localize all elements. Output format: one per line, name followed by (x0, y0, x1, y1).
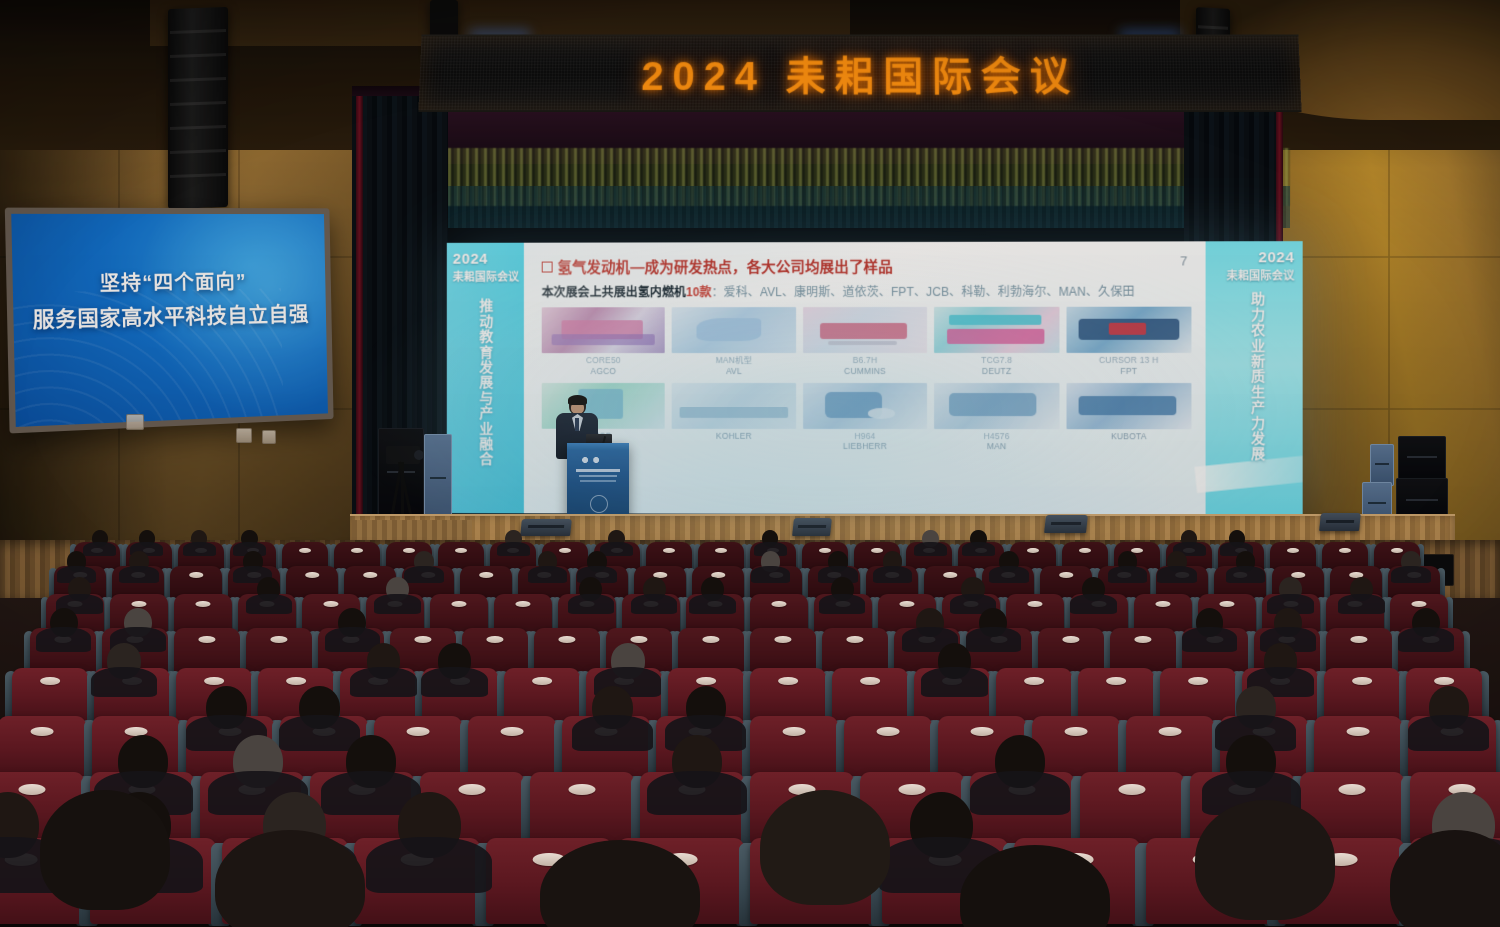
stage-monitor-wedge (520, 519, 572, 536)
foreground-audience-head (760, 790, 890, 905)
audience-member-shoulders (914, 542, 947, 557)
slide-logo-left-name: 耒耜国际会议 (453, 271, 520, 283)
seat-number-plate (458, 784, 485, 795)
seat-back (530, 772, 634, 844)
engine-model: CURSOR 13 H (1099, 355, 1158, 365)
slide-subtitle-count: 10款 (686, 285, 712, 299)
auditorium-seat (1160, 668, 1236, 722)
audience-member-shoulders (497, 542, 530, 557)
seat-number-plate (1338, 784, 1365, 795)
auditorium-seat (1032, 716, 1120, 778)
slide-image-caption: H4576 MAN (984, 431, 1010, 452)
podium-subtitle-line (579, 475, 617, 477)
wall-plate-3 (262, 430, 276, 444)
seat-back (750, 716, 838, 778)
conference-hall-photo: 2024 耒耜国际会议 坚持“四个面向” 服务国家高水平科技自立自强 2024 … (0, 0, 1500, 927)
led-display-panel: 坚持“四个面向” 服务国家高水平科技自立自强 (11, 214, 328, 427)
podium-seal (590, 495, 608, 513)
auditorium-seat (1314, 716, 1402, 778)
auditorium-seat (1080, 772, 1184, 844)
audience-member-shoulders (421, 667, 488, 697)
stage-monitor-wedge (1044, 515, 1088, 533)
seat-number-plate (1059, 572, 1073, 578)
audience-member-shoulders (246, 594, 292, 615)
audience-member-shoulders (1182, 627, 1237, 652)
audience-member-shoulders (1157, 566, 1197, 584)
slide-image-cell: CORE50 AGCO (542, 308, 665, 377)
auditorium-seat (1078, 668, 1154, 722)
seat-back (844, 716, 932, 778)
slide-vertical-text-right: 助力农业新质生产力发展 (1248, 291, 1268, 461)
audience-member-shoulders (819, 594, 865, 615)
seat-number-plate (18, 784, 45, 795)
slide-image-cell: B6.7H CUMMINS (803, 307, 927, 376)
seat-number-plate (479, 572, 493, 578)
seat-back (1324, 668, 1400, 722)
seat-number-plate (286, 677, 306, 685)
slide-image-cell: TCG7.8 DEUTZ (934, 307, 1059, 376)
seat-number-plate (860, 677, 880, 685)
seat-back (832, 668, 908, 722)
auditorium-seat (996, 668, 1072, 722)
slide-image-caption: H964 LIEBHERR (843, 431, 887, 452)
engine-thumbnail (803, 307, 927, 353)
seat-back (0, 716, 86, 778)
audience-member-shoulders (1108, 566, 1148, 584)
slide-image-caption: KOHLER (716, 431, 752, 442)
audience-member-shoulders (568, 594, 614, 615)
engine-thumbnail (803, 383, 927, 429)
engine-thumbnail (542, 308, 665, 354)
engine-maker: AGCO (586, 366, 621, 377)
audience-member-shoulders (970, 771, 1070, 816)
seat-back (996, 668, 1072, 722)
engine-maker: LIEBHERR (843, 441, 887, 452)
wall-plate-2 (236, 428, 252, 443)
slide-image-cell: CURSOR 13 H FPT (1066, 307, 1191, 377)
seat-back (504, 668, 580, 722)
seat-number-plate (1352, 677, 1372, 685)
slide-logo-right: 2024 耒耜国际会议 (1226, 250, 1294, 284)
seat-back (1078, 668, 1154, 722)
pa-speaker-right-top (1398, 436, 1446, 482)
slide-page-number: 7 (1180, 253, 1187, 268)
seat-back (1314, 716, 1402, 778)
led-line-2: 服务国家高水平科技自立自强 (13, 298, 326, 335)
auditorium-seat (12, 668, 88, 722)
audience-member-shoulders (83, 542, 116, 557)
auditorium-seat (504, 668, 580, 722)
slide-image-row-1: CORE50 AGCO MAN机型 AVL (542, 307, 1192, 377)
auditorium-seat (530, 772, 634, 844)
audience-member-shoulders (366, 837, 492, 893)
auditorium-seat (1324, 668, 1400, 722)
audience-member-shoulders (1398, 627, 1453, 652)
audience-member-shoulders (600, 542, 633, 557)
line-array-speaker-left (168, 7, 228, 209)
engine-model: MAN机型 (716, 355, 753, 365)
engine-model: CORE50 (586, 355, 621, 365)
stage-monitor-wedge (792, 518, 832, 536)
engine-thumbnail (1066, 383, 1191, 429)
engine-thumbnail (672, 383, 796, 429)
podium-subtitle-line-2 (580, 480, 616, 482)
audience-member-shoulders (751, 566, 791, 584)
audience-member-shoulders (119, 566, 159, 584)
seat-number-plate (1434, 677, 1454, 685)
engine-maker: FPT (1099, 366, 1158, 377)
wall-plate-1 (126, 414, 144, 430)
engine-maker: MAN (984, 441, 1010, 452)
podium-title-line (576, 469, 620, 472)
wall-led-display: 坚持“四个面向” 服务国家高水平科技自立自强 (5, 208, 334, 434)
bullet-square-icon (542, 262, 553, 273)
slide-logo-right-name: 耒耜国际会议 (1226, 270, 1294, 282)
seat-number-plate (943, 572, 957, 578)
podium-logo (575, 455, 621, 465)
audience-member-shoulders (528, 566, 568, 584)
audience-member-shoulders (183, 542, 216, 557)
presenter-tie (575, 418, 579, 431)
engine-model: H4576 (984, 431, 1010, 441)
audience-member-shoulders (1408, 715, 1489, 751)
engine-model: TCG7.8 (981, 355, 1012, 365)
engine-maker: KUBOTA (1111, 431, 1147, 442)
led-display-text: 坚持“四个面向” 服务国家高水平科技自立自强 (12, 264, 326, 334)
audience-member-shoulders (374, 594, 420, 615)
pa-speaker-right-side-top (1370, 444, 1394, 486)
seat-number-plate (1024, 677, 1044, 685)
seat-number-plate (1188, 677, 1208, 685)
slide-image-cell: MAN机型 AVL (672, 307, 796, 376)
slide-image-caption: CORE50 AGCO (586, 355, 621, 376)
seat-back (468, 716, 556, 778)
slide-image-cell: H964 LIEBHERR (803, 383, 927, 452)
engine-maker: DEUTZ (981, 366, 1012, 377)
slide-logo-right-year: 2024 (1258, 249, 1294, 266)
seat-number-plate (189, 572, 203, 578)
engine-model: B6.7H (853, 355, 877, 365)
slide-title-text: 氢气发动机—成为研发热点，各大公司均展出了样品 (558, 260, 893, 277)
seat-back (1080, 772, 1184, 844)
seat-back (1160, 668, 1236, 722)
curtain-valance-teal (398, 186, 1290, 228)
slide-title: 氢气发动机—成为研发热点，各大公司均展出了样品 (542, 255, 1192, 277)
engine-thumbnail (1066, 307, 1191, 353)
auditorium-seat (750, 716, 838, 778)
audience-member-shoulders (631, 594, 677, 615)
audience-member-shoulders (962, 542, 995, 557)
slide-image-cell: H4576 MAN (934, 383, 1059, 452)
auditorium-seat (832, 668, 908, 722)
seat-number-plate (898, 784, 925, 795)
audience-member-shoulders (689, 594, 735, 615)
led-line-1: 坚持“四个面向” (12, 264, 325, 297)
seat-back (12, 668, 88, 722)
audience-member-shoulders (36, 627, 91, 652)
slide-image-caption: CURSOR 13 H FPT (1099, 355, 1158, 376)
audience-member-shoulders (91, 667, 158, 697)
camera-lens-icon (414, 450, 424, 460)
audience-member-shoulders (1070, 594, 1116, 615)
audience-member-shoulders (873, 566, 913, 584)
slide-image-caption: KUBOTA (1111, 431, 1147, 442)
stage-monitor-wedge (1319, 513, 1361, 531)
seat-number-plate (40, 677, 60, 685)
slide-image-caption: B6.7H CUMMINS (844, 355, 886, 376)
curtain-edge-left (356, 96, 363, 536)
auditorium-seat (468, 716, 556, 778)
engine-maker: AVL (716, 366, 753, 377)
engine-thumbnail (672, 307, 796, 353)
presenter-hair (568, 395, 587, 405)
slide-image-row-2: JCB KOHLER (542, 383, 1192, 453)
seat-number-plate (363, 572, 377, 578)
seat-number-plate (778, 677, 798, 685)
foreground-audience-head (1195, 800, 1335, 920)
slide-subtitle-prefix: 本次展会上共展出氢内燃机 (542, 285, 686, 299)
engine-model: H964 (855, 431, 876, 441)
slide-image-caption: TCG7.8 DEUTZ (981, 355, 1012, 376)
audience-member-shoulders (1226, 566, 1266, 584)
seat-number-plate (568, 784, 595, 795)
seat-number-plate (305, 572, 319, 578)
seat-number-plate (696, 677, 716, 685)
audience-member-shoulders (350, 667, 417, 697)
auditorium-seat (750, 668, 826, 722)
seat-number-plate (1106, 677, 1126, 685)
slide-vertical-text-left: 推动教育发展与产业融合 (476, 298, 496, 466)
seat-number-plate (1118, 784, 1145, 795)
slide-subtitle-list: ：爱科、AVL、康明斯、道依茨、FPT、JCB、科勒、利勃海尔、MAN、久保田 (712, 285, 1135, 300)
auditorium-seat (0, 716, 86, 778)
banner-title-text: 2024 耒耜国际会议 (641, 44, 1079, 102)
seat-back (750, 668, 826, 722)
audience-member-shoulders (989, 566, 1029, 584)
audience-member-shoulders (279, 715, 360, 751)
engine-maker: CUMMINS (844, 366, 886, 377)
audience-member-shoulders (966, 627, 1021, 652)
engine-thumbnail (934, 383, 1059, 429)
slide-subtitle: 本次展会上共展出氢内燃机10款：爱科、AVL、康明斯、道依茨、FPT、JCB、科… (542, 284, 1192, 302)
seat-number-plate (532, 677, 552, 685)
slide-image-caption: MAN机型 AVL (716, 355, 753, 376)
audience-member-shoulders (1338, 594, 1384, 615)
seat-back (1032, 716, 1120, 778)
auditorium-seat (1126, 716, 1214, 778)
engine-maker: KOHLER (716, 431, 752, 442)
audience-member-shoulders (404, 566, 444, 584)
slide-image-cell: KUBOTA (1066, 383, 1191, 453)
engine-thumbnail (934, 307, 1059, 353)
audience-member-shoulders (1391, 566, 1431, 584)
seat-back (1126, 716, 1214, 778)
audience-member-shoulders (647, 771, 747, 816)
slide-logo-left-year: 2024 (453, 251, 488, 268)
seat-number-plate (204, 677, 224, 685)
slide-logo-left: 2024 耒耜国际会议 (453, 252, 520, 286)
audience-member-shoulders (921, 667, 988, 697)
audience-member-shoulders (572, 715, 653, 751)
slide-image-cell: KOHLER (672, 383, 796, 452)
foreground-audience-head (40, 790, 170, 910)
led-banner: 2024 耒耜国际会议 (418, 34, 1301, 112)
auditorium-seat (844, 716, 932, 778)
